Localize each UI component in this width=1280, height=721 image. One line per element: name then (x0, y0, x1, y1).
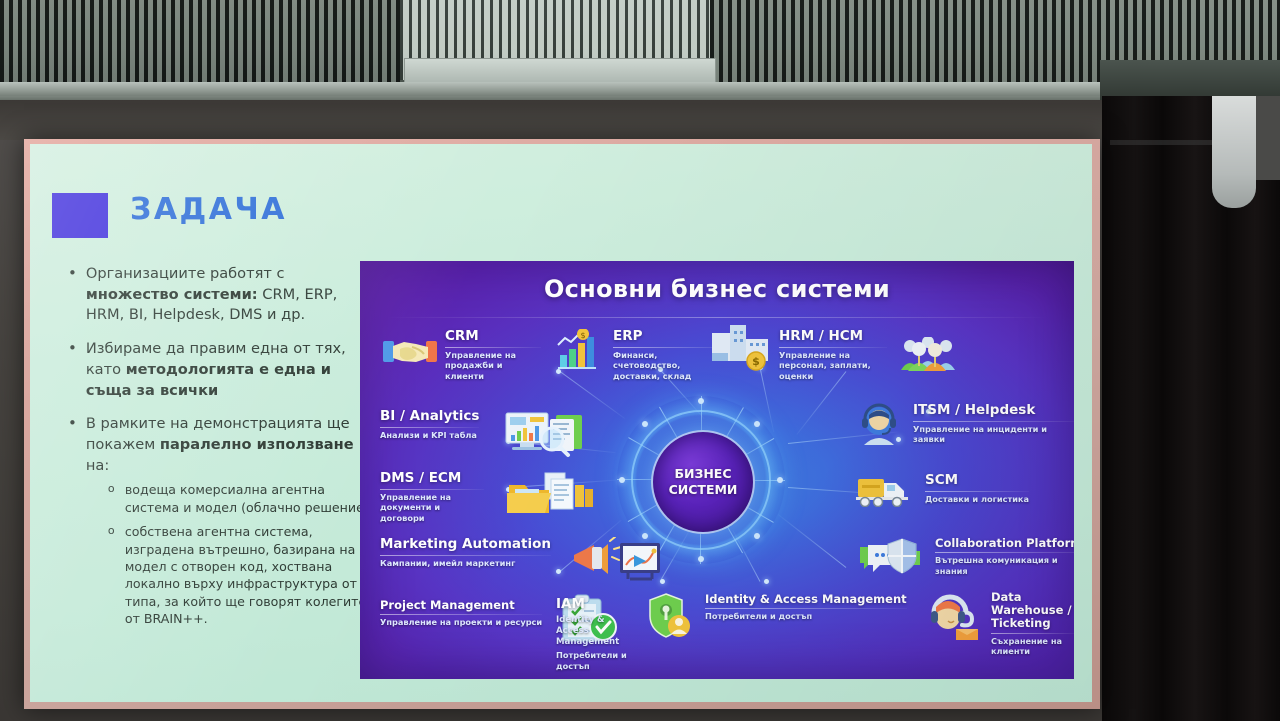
dwh-title: Data Warehouse / Ticketing (991, 591, 1074, 631)
divider (380, 555, 551, 556)
pm-title: Project Management (380, 599, 542, 612)
scm-subtitle: Доставки и логистика (925, 494, 1029, 505)
dwh-subtitle: Съхранение на клиенти (991, 636, 1074, 657)
diagram-item-identity-access: Identity & Access Management Потребители… (648, 593, 907, 639)
divider (613, 347, 725, 348)
iam-subtitle2: Потребители и достъп (556, 650, 638, 671)
sub-bullet-marker: o (108, 481, 116, 516)
diagram-item-collaboration: Collaboration Platforms Вътрешна комуник… (858, 537, 1074, 577)
presentation-slide: ЗАДАЧА • Организациите работят с множест… (30, 144, 1092, 702)
divider (705, 608, 907, 609)
bullet-item: • Избираме да правим една от тях, като м… (68, 339, 380, 401)
bullet-marker: • (68, 264, 77, 326)
divider (380, 614, 542, 615)
headset-agent-icon (860, 403, 898, 445)
collaboration-subtitle: Вътрешна комуникация и знания (935, 555, 1074, 576)
divider (991, 633, 1074, 634)
hub-label-line2: СИСТЕМИ (669, 482, 738, 498)
sub-bullet-text: собствена агентна система, изградена вът… (125, 523, 380, 627)
svg-text:$: $ (580, 331, 585, 340)
diagram-item-marketing: Marketing Automation Кампании, имейл мар… (380, 537, 662, 585)
svg-text:$: $ (752, 355, 760, 368)
collaboration-title: Collaboration Platforms (935, 537, 1074, 550)
diagram-item-iam: IAM Identity & Access Management Потреби… (556, 597, 638, 671)
connector-line (778, 514, 846, 568)
diagram-item-dms: DMS / ECM Управление на документи и дого… (380, 471, 595, 523)
ceiling-slats-left (0, 0, 400, 88)
bi-text: BI / Analytics Анализи и KPI табла (380, 409, 479, 440)
bullet-item: • В рамките на демонстрацията ще покажем… (68, 414, 380, 634)
dms-title: DMS / ECM (380, 471, 484, 487)
hrm-text: HRM / HCM Управление на персонал, заплат… (779, 323, 887, 381)
pm-text: Project Management Управление на проекти… (380, 599, 542, 628)
hrm-subtitle: Управление на персонал, заплати, оценки (779, 350, 887, 382)
divider (925, 491, 1029, 492)
hrm-title: HRM / HCM (779, 329, 887, 345)
projection-screen: ЗАДАЧА • Организациите работят с множест… (30, 144, 1092, 702)
chat-shield-icon (858, 537, 922, 577)
dms-subtitle: Управление на документи и договори (380, 492, 484, 524)
erp-text: ERP Финанси, счетоводство, доставки, скл… (613, 329, 725, 381)
dashboard-magnifier-icon (502, 409, 586, 461)
bullet-marker: • (68, 414, 77, 634)
divider (380, 427, 479, 428)
delivery-truck-icon (856, 473, 912, 507)
crm-text: CRM Управление на продажби и клиенти (445, 329, 541, 381)
bullet-text: В рамките на демонстрацията ще покажем п… (86, 414, 380, 634)
slide-title: ЗАДАЧА (130, 192, 287, 227)
bullet-item: • Организациите работят с множество сист… (68, 264, 380, 326)
diagram-item-crm: CRM Управление на продажби и клиенти (382, 329, 541, 381)
diagram-item-bi: BI / Analytics Анализи и KPI табла (380, 409, 586, 461)
hub-core: БИЗНЕС СИСТЕМИ (651, 430, 755, 534)
dwh-text: Data Warehouse / Ticketing Съхранение на… (991, 591, 1074, 657)
iam-title: IAM (556, 597, 638, 613)
hub-label-line1: БИЗНЕС (674, 466, 731, 482)
divider (445, 347, 541, 348)
ring-node (698, 398, 704, 404)
ring-node (754, 533, 760, 539)
bi-subtitle: Анализи и KPI табла (380, 430, 479, 441)
erp-subtitle: Финанси, счетоводство, доставки, склад (613, 350, 725, 382)
identity-text: Identity & Access Management Потребители… (705, 593, 907, 622)
sub-bullet-text: водеща комерсиална агентна система и мод… (125, 481, 380, 516)
diagram-item-data-warehouse: Data Warehouse / Ticketing Съхранение на… (926, 591, 1074, 657)
divider (913, 421, 1074, 422)
bullet-text: Избираме да правим една от тях, като мет… (86, 339, 380, 401)
marketing-text: Marketing Automation Кампании, имейл мар… (380, 537, 551, 568)
identity-title: Identity & Access Management (705, 593, 907, 606)
bullet-part: Организациите работят с (86, 265, 285, 282)
folder-documents-icon (505, 471, 595, 521)
bullet-marker: • (68, 339, 77, 401)
sub-bullet-list: o водеща комерсиална агентна система и м… (108, 481, 380, 627)
sub-bullet-item: o собствена агентна система, изградена в… (108, 523, 380, 627)
iam-subtitle: Identity & Access Management (556, 615, 638, 649)
ring-node (754, 421, 760, 427)
iam-text: IAM Identity & Access Management Потреби… (556, 597, 638, 671)
bullet-text: Организациите работят с множество систем… (86, 264, 380, 326)
scm-title: SCM (925, 473, 1029, 489)
diagram-item-erp: $ ERP Финанси, счетоводство, доставки, с… (556, 329, 725, 381)
sub-bullet-item: o водеща комерсиална агентна система и м… (108, 481, 380, 516)
people-group-icon (900, 337, 958, 371)
divider (380, 489, 484, 490)
ring-node (619, 477, 625, 483)
diagram-title: Основни бизнес системи (360, 275, 1074, 303)
sub-bullet-marker: o (108, 523, 116, 627)
wall-speaker (1212, 96, 1256, 208)
ring-node (777, 477, 783, 483)
conference-room-photo: ЗАДАЧА • Организациите работят с множест… (0, 0, 1280, 721)
connector-node (764, 579, 769, 584)
scm-text: SCM Доставки и логистика (925, 473, 1029, 504)
business-systems-diagram: Основни бизнес системи (360, 261, 1074, 679)
marketing-subtitle: Кампании, имейл маркетинг (380, 558, 551, 569)
bullet-part-bold: множество системи: (86, 286, 258, 303)
ring-node (642, 421, 648, 427)
erp-title: ERP (613, 329, 725, 345)
wall-upper-shadow (0, 100, 1140, 140)
diagram-title-rule (386, 317, 1048, 318)
diagram-item-scm: SCM Доставки и логистика (856, 473, 1029, 507)
bar-chart-dollar-icon: $ (556, 329, 606, 371)
pm-subtitle: Управление на проекти и ресурси (380, 617, 542, 628)
divider (935, 552, 1074, 553)
bullet-part-bold: паралелно използване (160, 436, 354, 453)
bi-title: BI / Analytics (380, 409, 479, 425)
shield-key-icon (648, 593, 692, 639)
collaboration-text: Collaboration Platforms Вътрешна комуник… (935, 537, 1074, 577)
ring-node (698, 556, 704, 562)
projection-screen-frame: ЗАДАЧА • Организациите работят с множест… (24, 139, 1100, 709)
title-accent-square (52, 193, 108, 238)
bullet-part: на: (86, 457, 109, 474)
marketing-title: Marketing Automation (380, 537, 551, 553)
headset-support-icon (926, 591, 980, 641)
diagram-item-hrm: $ HRM / HCM Управление на персонал, запл… (710, 323, 958, 381)
factory-building-icon: $ (710, 323, 772, 371)
dms-text: DMS / ECM Управление на документи и дого… (380, 471, 484, 523)
diagram-item-itsm: ITSM / Helpdesk Управление на инциденти … (860, 403, 1074, 445)
handshake-icon (382, 329, 438, 373)
crm-title: CRM (445, 329, 541, 345)
itsm-subtitle: Управление на инциденти и заявки (913, 424, 1074, 445)
itsm-text: ITSM / Helpdesk Управление на инциденти … (913, 403, 1074, 445)
identity-subtitle: Потребители и достъп (705, 611, 907, 622)
itsm-title: ITSM / Helpdesk (913, 403, 1074, 419)
crm-subtitle: Управление на продажби и клиенти (445, 350, 541, 382)
megaphone-icon (570, 537, 662, 585)
bullet-list: • Организациите работят с множество сист… (68, 264, 380, 647)
divider (779, 347, 887, 348)
